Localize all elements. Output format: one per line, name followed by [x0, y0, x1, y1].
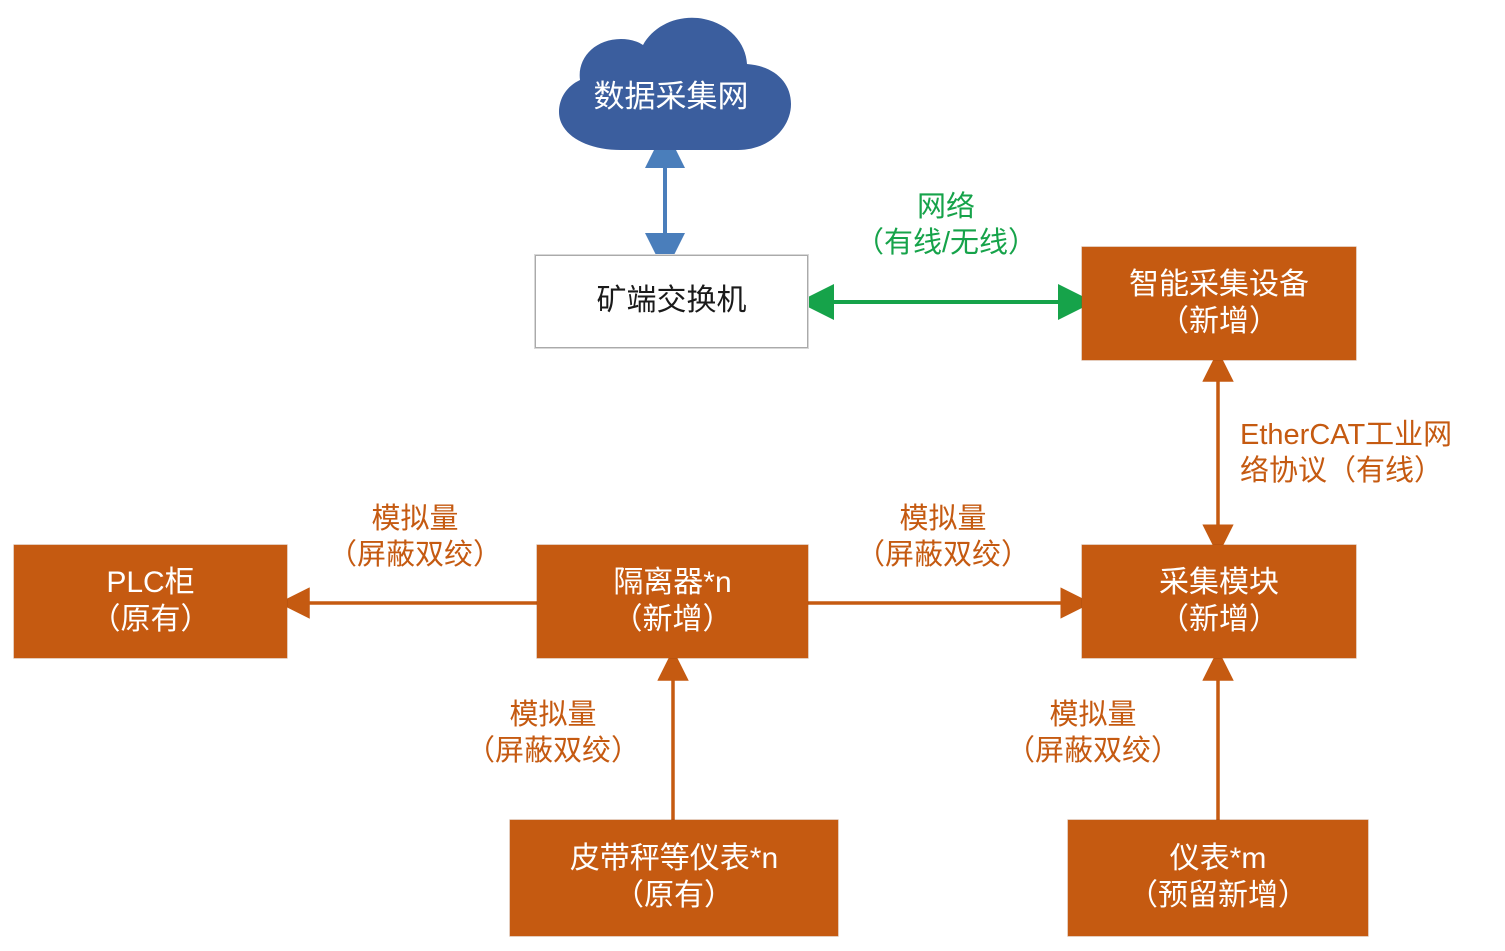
node-smart-device[interactable]: 智能采集设备 （新增） [1082, 247, 1356, 360]
edge-label-ethercat: EtherCAT工业网 络协议（有线） [1240, 418, 1505, 490]
node-plc-cabinet-line1: PLC柜 [106, 565, 194, 602]
node-acquisition-module-line1: 采集模块 [1159, 565, 1279, 602]
node-belt-scale-instruments-line2: （原有） [614, 878, 734, 915]
edge-label-ethercat-line2: 络协议（有线） [1240, 454, 1505, 490]
node-smart-device-line2: （新增） [1159, 304, 1279, 341]
node-belt-scale-instruments-line1: 皮带秤等仪表*n [570, 841, 778, 878]
edge-label-network: 网络 （有线/无线） [816, 190, 1076, 262]
edge-label-analog-meter-acq: 模拟量 （屏蔽双绞） [970, 698, 1216, 770]
node-isolator-line1: 隔离器*n [613, 565, 731, 602]
node-acquisition-module[interactable]: 采集模块 （新增） [1082, 545, 1356, 658]
node-acquisition-module-line2: （新增） [1159, 602, 1279, 639]
edge-label-network-line1: 网络 [816, 190, 1076, 226]
node-isolator-line2: （新增） [613, 602, 733, 639]
node-mine-switch-line1: 矿端交换机 [597, 283, 747, 320]
edge-label-analog-isolator-acq-line1: 模拟量 [820, 502, 1066, 538]
cloud-icon [533, 12, 809, 152]
edge-label-analog-meter-acq-line1: 模拟量 [970, 698, 1216, 734]
node-meter-reserved-line2: （预留新增） [1128, 878, 1308, 915]
edge-label-analog-isolator-acq: 模拟量 （屏蔽双绞） [820, 502, 1066, 574]
edge-label-analog-belt-isolator: 模拟量 （屏蔽双绞） [430, 698, 676, 770]
edge-label-network-line2: （有线/无线） [816, 226, 1076, 262]
edge-label-analog-belt-isolator-line1: 模拟量 [430, 698, 676, 734]
node-meter-reserved[interactable]: 仪表*m （预留新增） [1068, 820, 1368, 936]
node-plc-cabinet[interactable]: PLC柜 （原有） [14, 545, 287, 658]
node-belt-scale-instruments[interactable]: 皮带秤等仪表*n （原有） [510, 820, 838, 936]
node-meter-reserved-line1: 仪表*m [1170, 841, 1267, 878]
edge-label-ethercat-line1: EtherCAT工业网 [1240, 418, 1505, 454]
edge-label-analog-meter-acq-line2: （屏蔽双绞） [970, 734, 1216, 770]
diagram-canvas: 数据采集网 矿端交换机 智能采集设备 （新增） PLC柜 （原有） 隔离器*n … [0, 0, 1505, 951]
node-smart-device-line1: 智能采集设备 [1129, 267, 1309, 304]
node-isolator[interactable]: 隔离器*n （新增） [537, 545, 808, 658]
edge-label-analog-isolator-plc-line1: 模拟量 [292, 502, 538, 538]
node-mine-switch[interactable]: 矿端交换机 [535, 255, 808, 348]
edge-label-analog-belt-isolator-line2: （屏蔽双绞） [430, 734, 676, 770]
node-cloud[interactable]: 数据采集网 [533, 12, 809, 152]
edge-label-analog-isolator-plc-line2: （屏蔽双绞） [292, 538, 538, 574]
node-plc-cabinet-line2: （原有） [91, 602, 211, 639]
edge-label-analog-isolator-plc: 模拟量 （屏蔽双绞） [292, 502, 538, 574]
edge-label-analog-isolator-acq-line2: （屏蔽双绞） [820, 538, 1066, 574]
